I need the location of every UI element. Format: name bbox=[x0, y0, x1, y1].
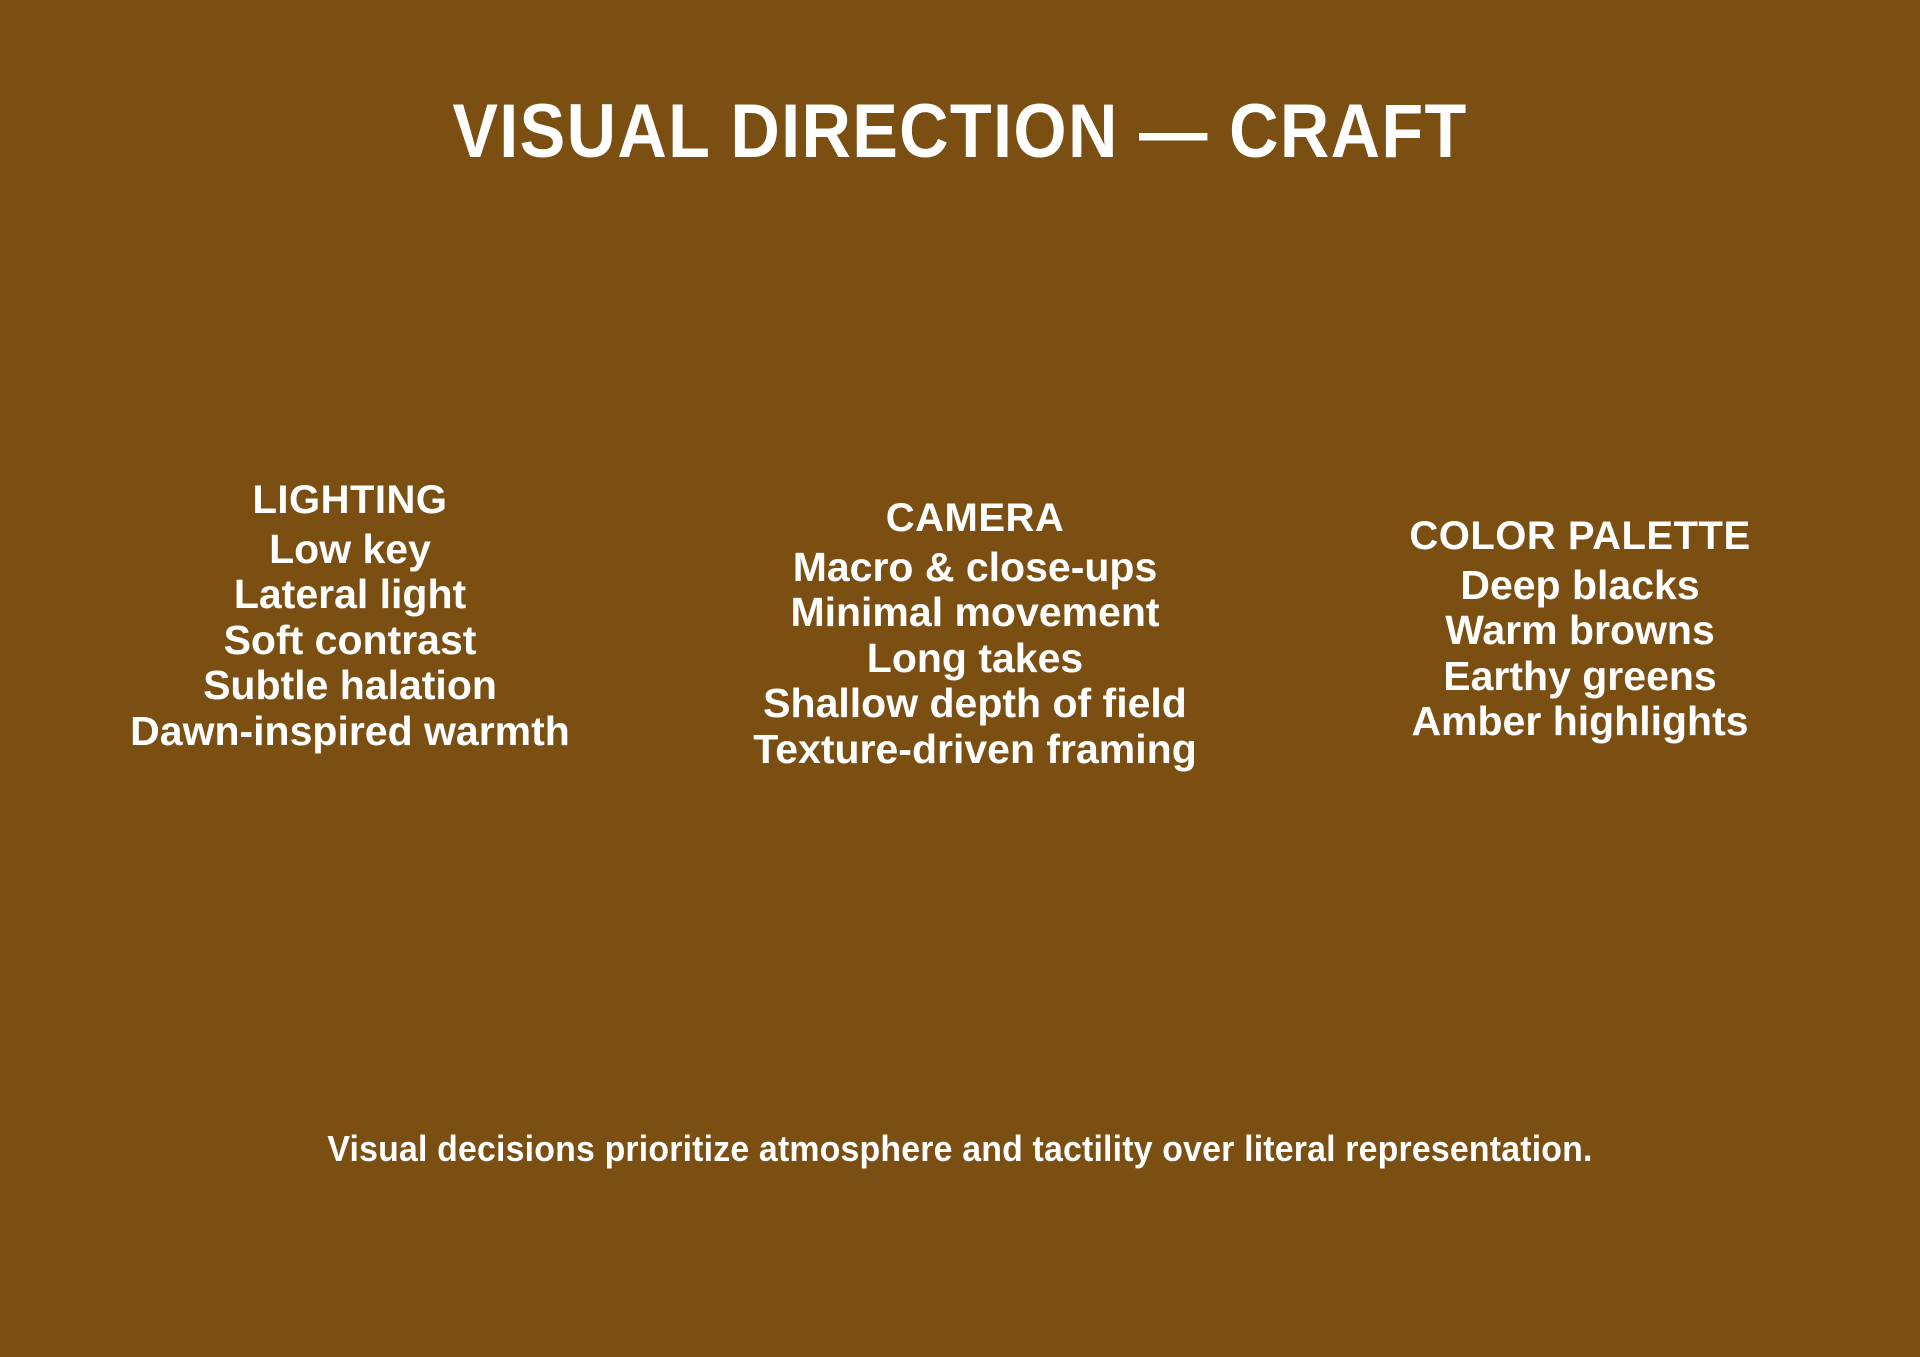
list-item: Warm browns bbox=[1300, 608, 1860, 654]
list-item: Amber highlights bbox=[1300, 699, 1860, 745]
column-color-palette: COLOR PALETTE Deep blacks Warm browns Ea… bbox=[1300, 514, 1860, 745]
slide-canvas: VISUAL DIRECTION — CRAFT LIGHTING Low ke… bbox=[0, 0, 1920, 1357]
list-item: Macro & close-ups bbox=[685, 545, 1265, 591]
column-heading-camera: CAMERA bbox=[685, 496, 1265, 541]
list-item: Minimal movement bbox=[685, 590, 1265, 636]
list-item: Lateral light bbox=[50, 572, 650, 618]
column-lighting: LIGHTING Low key Lateral light Soft cont… bbox=[50, 478, 650, 754]
list-item: Low key bbox=[50, 527, 650, 573]
list-item: Texture-driven framing bbox=[685, 727, 1265, 773]
list-item: Subtle halation bbox=[50, 663, 650, 709]
columns-container: LIGHTING Low key Lateral light Soft cont… bbox=[0, 478, 1920, 772]
column-list-color-palette: Deep blacks Warm browns Earthy greens Am… bbox=[1300, 563, 1860, 745]
column-list-camera: Macro & close-ups Minimal movement Long … bbox=[685, 545, 1265, 773]
footer-note: Visual decisions prioritize atmosphere a… bbox=[58, 1128, 1863, 1170]
list-item: Shallow depth of field bbox=[685, 681, 1265, 727]
column-heading-lighting: LIGHTING bbox=[50, 478, 650, 523]
list-item: Long takes bbox=[685, 636, 1265, 682]
list-item: Deep blacks bbox=[1300, 563, 1860, 609]
list-item: Soft contrast bbox=[50, 618, 650, 664]
page-title: VISUAL DIRECTION — CRAFT bbox=[96, 92, 1824, 172]
column-heading-color-palette: COLOR PALETTE bbox=[1300, 514, 1860, 559]
list-item: Dawn-inspired warmth bbox=[50, 709, 650, 755]
column-list-lighting: Low key Lateral light Soft contrast Subt… bbox=[50, 527, 650, 755]
list-item: Earthy greens bbox=[1300, 654, 1860, 700]
column-camera: CAMERA Macro & close-ups Minimal movemen… bbox=[685, 496, 1265, 772]
